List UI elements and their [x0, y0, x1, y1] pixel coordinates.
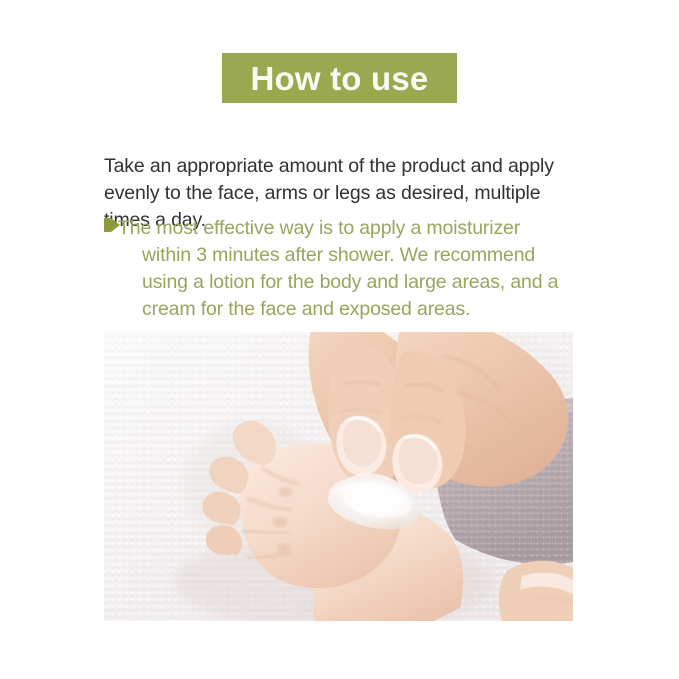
tip-block: TIP.The most effective way is to apply a…	[104, 215, 574, 323]
tip-badge: TIP.	[104, 218, 111, 232]
usage-photo	[104, 332, 573, 621]
tip-text: The most effective way is to apply a moi…	[118, 217, 558, 320]
header-banner: How to use	[222, 53, 457, 103]
tip-body: TIP.The most effective way is to apply a…	[104, 215, 574, 323]
page-title: How to use	[250, 62, 428, 95]
how-to-use-page: How to use Take an appropriate amount of…	[0, 0, 679, 679]
usage-photo-illustration	[104, 332, 573, 621]
